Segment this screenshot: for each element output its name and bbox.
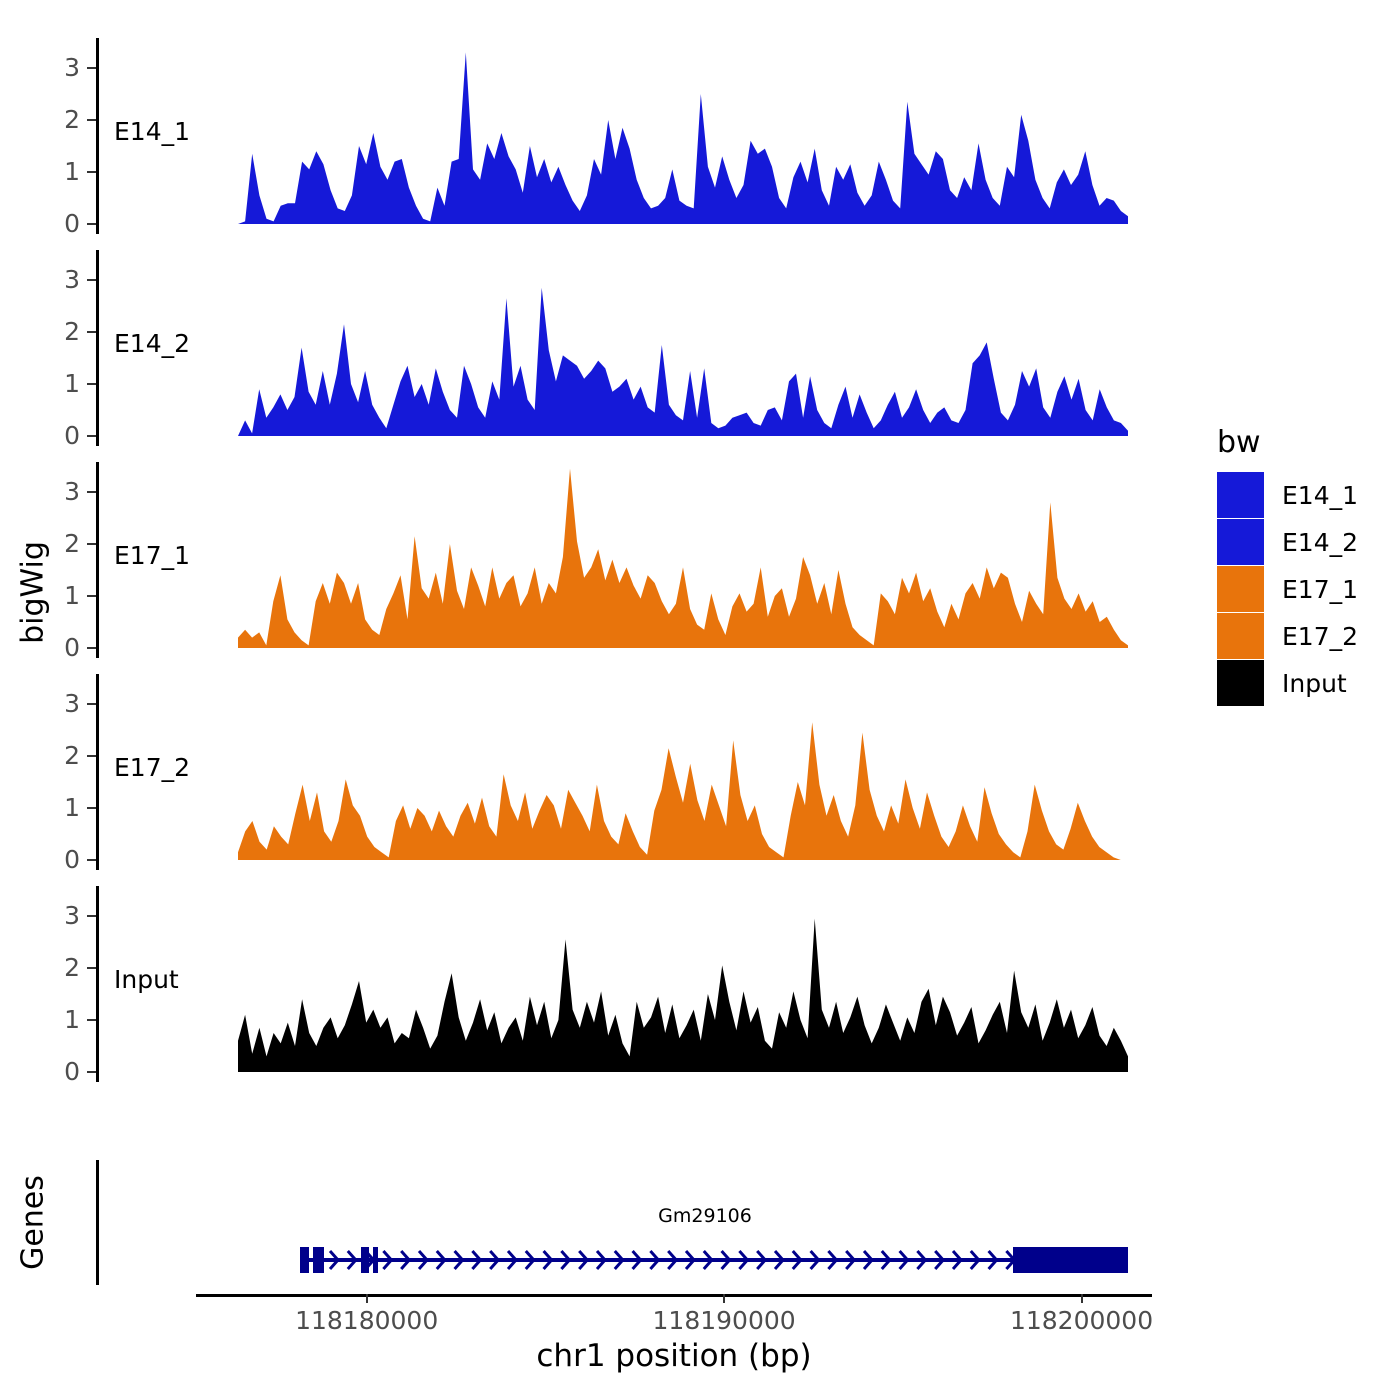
gene-exon-small-2: [361, 1247, 369, 1273]
y-tick-label: 2: [40, 107, 80, 132]
legend-label: E14_2: [1282, 528, 1358, 557]
y-tickmark: [87, 383, 96, 385]
legend-item-input[interactable]: Input: [1217, 660, 1347, 706]
y-tick-label: 0: [40, 1059, 80, 1084]
x-tickmark: [366, 1294, 368, 1303]
track-label-e14_1: E14_1: [114, 117, 190, 146]
x-axis-title: chr1 position (bp): [424, 1338, 924, 1374]
y-tick-label: 0: [40, 211, 80, 236]
legend-swatch-e17_1: [1217, 566, 1264, 612]
y-tickmark: [87, 807, 96, 809]
y-tickmark: [87, 595, 96, 597]
y-tick-label: 2: [40, 955, 80, 980]
gene-exon-small-1: [313, 1247, 324, 1273]
legend-label: E17_1: [1282, 575, 1358, 604]
track-label-e14_2: E14_2: [114, 329, 190, 358]
track-label-input: Input: [114, 965, 179, 994]
legend-label: E14_1: [1282, 481, 1358, 510]
track-label-e17_2: E17_2: [114, 753, 190, 782]
signal-track-e14_1[interactable]: [238, 30, 1128, 240]
y-tickmark: [87, 331, 96, 333]
x-tick-label: 118180000: [277, 1306, 457, 1335]
legend-swatch-input: [1217, 660, 1264, 706]
y-tick-label: 3: [40, 55, 80, 80]
figure-root: bigWig Genes 0123E14_10123E14_20123E17_1…: [0, 0, 1400, 1400]
y-tickmark: [87, 223, 96, 225]
y-tickmark: [87, 543, 96, 545]
y-tick-label: 1: [40, 159, 80, 184]
y-tickmark: [87, 703, 96, 705]
y-tickmark: [87, 119, 96, 121]
legend-item-e17_2[interactable]: E17_2: [1217, 613, 1358, 659]
y-tickmark: [87, 67, 96, 69]
legend-item-e14_1[interactable]: E14_1: [1217, 472, 1358, 518]
x-tickmark: [1081, 1294, 1083, 1303]
legend-item-e14_2[interactable]: E14_2: [1217, 519, 1358, 565]
legend-item-e17_1[interactable]: E17_1: [1217, 566, 1358, 612]
signal-track-e17_1[interactable]: [238, 454, 1128, 664]
y-tick-label: 3: [40, 903, 80, 928]
x-tick-label: 118190000: [634, 1306, 814, 1335]
y-tickmark: [87, 1019, 96, 1021]
signal-track-input[interactable]: [238, 878, 1128, 1088]
y-tick-label: 0: [40, 635, 80, 660]
legend-swatch-e17_2: [1217, 613, 1264, 659]
y-tick-label: 3: [40, 267, 80, 292]
track-label-e17_1: E17_1: [114, 541, 190, 570]
legend-title: bw: [1217, 425, 1261, 460]
panel-axis-e17_2: [96, 674, 99, 870]
y-tick-label: 1: [40, 583, 80, 608]
y-tickmark: [87, 915, 96, 917]
legend-swatch-e14_2: [1217, 519, 1264, 565]
y-tickmark: [87, 491, 96, 493]
y-tickmark: [87, 279, 96, 281]
y-tick-label: 2: [40, 743, 80, 768]
gene-panel-axis: [96, 1160, 99, 1285]
y-tick-label: 3: [40, 479, 80, 504]
legend-label: Input: [1282, 669, 1347, 698]
y-tickmark: [87, 171, 96, 173]
y-tickmark: [87, 859, 96, 861]
x-tickmark: [723, 1294, 725, 1303]
y-tickmark: [87, 967, 96, 969]
y-tick-label: 1: [40, 371, 80, 396]
legend-swatch-e14_1: [1217, 472, 1264, 518]
panel-axis-e14_2: [96, 250, 99, 446]
x-tick-label: 118200000: [992, 1306, 1172, 1335]
y-tickmark: [87, 647, 96, 649]
y-tick-label: 0: [40, 847, 80, 872]
panel-axis-input: [96, 886, 99, 1082]
y-tick-label: 0: [40, 423, 80, 448]
legend-label: E17_2: [1282, 622, 1358, 651]
y-tick-label: 2: [40, 319, 80, 344]
y-tickmark: [87, 1071, 96, 1073]
signal-track-e17_2[interactable]: [238, 666, 1128, 876]
x-axis-line: [196, 1294, 1152, 1297]
genes-axis-title: Genes: [16, 1158, 51, 1288]
y-tick-label: 1: [40, 795, 80, 820]
y-tick-label: 2: [40, 531, 80, 556]
y-tick-label: 1: [40, 1007, 80, 1032]
y-tickmark: [87, 435, 96, 437]
gene-label: Gm29106: [620, 1205, 790, 1227]
panel-axis-e14_1: [96, 38, 99, 234]
gene-exon-small-0: [300, 1247, 309, 1273]
y-tickmark: [87, 755, 96, 757]
panel-axis-e17_1: [96, 462, 99, 658]
signal-track-e14_2[interactable]: [238, 242, 1128, 452]
y-tick-label: 3: [40, 691, 80, 716]
gene-model[interactable]: [238, 1237, 1128, 1283]
gene-exon-terminal: [1013, 1247, 1128, 1273]
